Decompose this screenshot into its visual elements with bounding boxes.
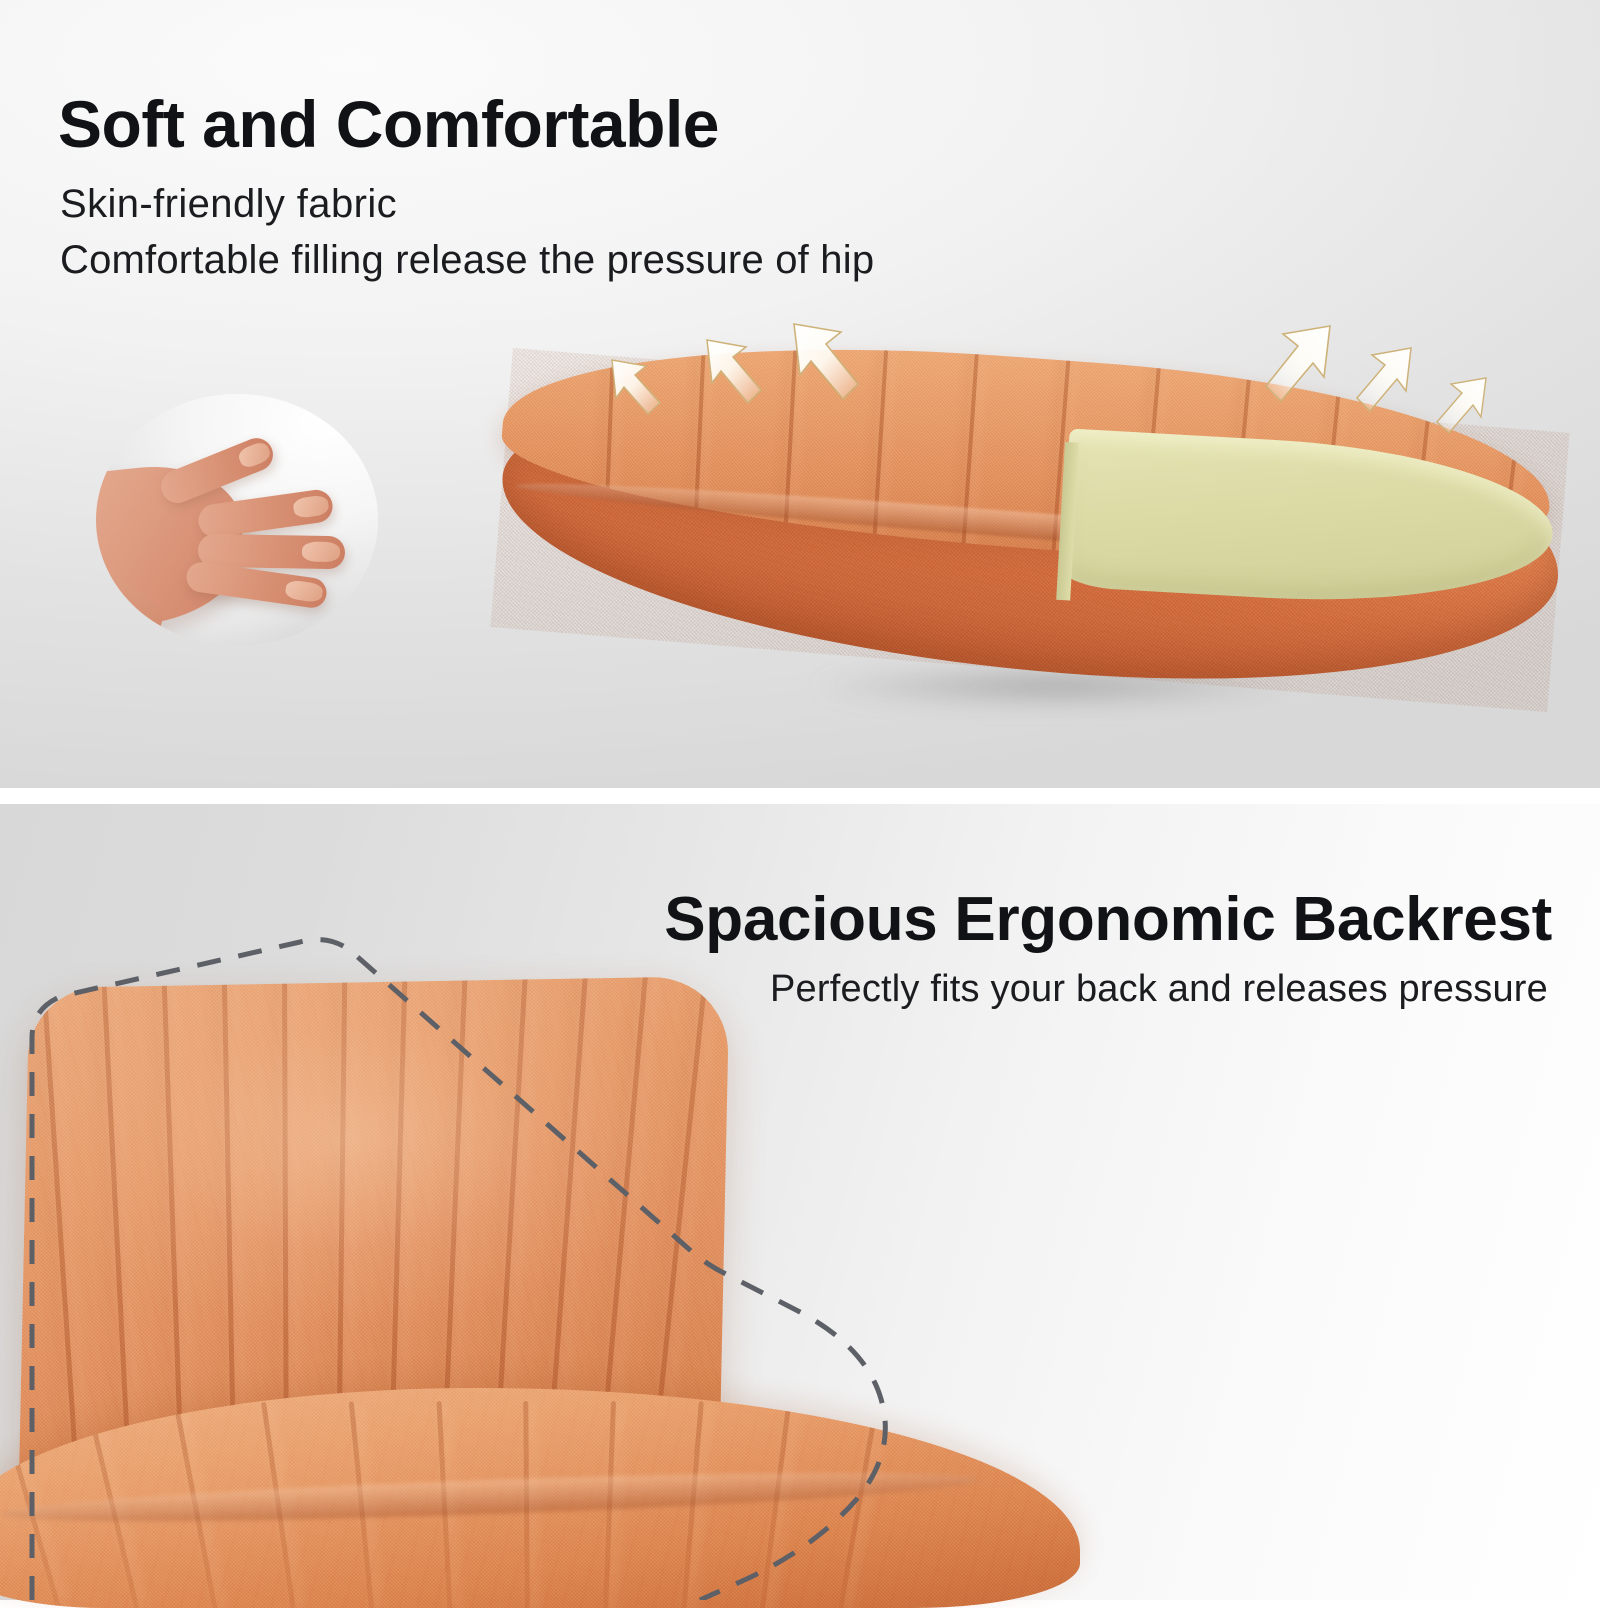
pressure-arrow-up-right-3 xyxy=(1432,374,1490,438)
hand-pressing-foam-inset xyxy=(96,394,378,646)
pressure-arrow-up-left-3 xyxy=(788,320,864,406)
infographic-page: Soft and Comfortable Skin-friendly fabri… xyxy=(0,0,1600,1600)
panel1-title: Soft and Comfortable xyxy=(58,86,719,162)
fingernail xyxy=(236,440,272,470)
panel-soft-and-comfortable: Soft and Comfortable Skin-friendly fabri… xyxy=(0,0,1600,788)
seat-cushion xyxy=(0,1388,1080,1608)
panel-divider xyxy=(0,788,1600,804)
panel1-subtitle-2: Comfortable filling release the pressure… xyxy=(60,238,874,283)
pressure-arrow-up-right-1 xyxy=(1262,322,1336,408)
seat-cushion-cutaway xyxy=(480,330,1570,730)
fingernail xyxy=(285,580,324,604)
pressure-arrow-up-right-2 xyxy=(1352,344,1416,416)
chair-backrest-photo xyxy=(0,940,1060,1600)
pressure-arrow-up-left-2 xyxy=(702,336,766,408)
pressure-arrow-up-left-1 xyxy=(608,356,664,418)
fingernail xyxy=(301,542,339,563)
fingernail xyxy=(292,494,330,519)
panel1-subtitle-1: Skin-friendly fabric xyxy=(60,182,397,227)
